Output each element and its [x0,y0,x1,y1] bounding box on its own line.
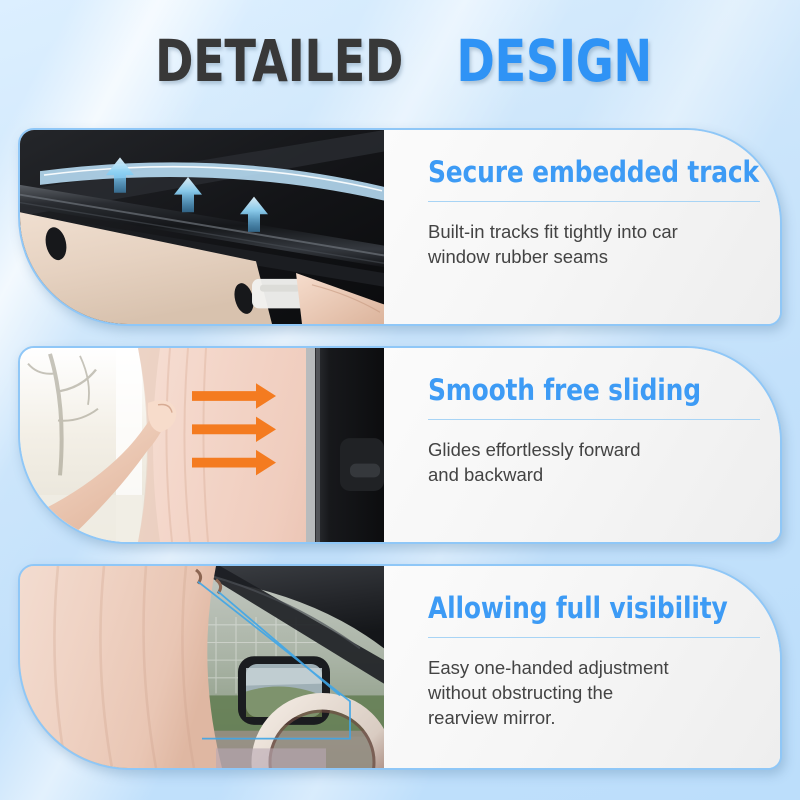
card-body-text: Easy one-handed adjustment without obstr… [428,655,738,730]
page-title: DETAILED DESIGN [0,30,800,92]
card-text-panel: Allowing full visibility Easy one-handed… [384,566,780,768]
photo-illustration-track [20,130,384,324]
infographic-page: DETAILED DESIGN [0,0,800,800]
photo-hand-sliding-curtain [20,348,384,542]
card-heading: Secure embedded track [428,156,701,188]
photo-illustration-visibility [20,566,384,768]
title-word-design: DESIGN [457,30,652,92]
card-divider [428,419,760,420]
card-heading: Smooth free sliding [428,374,701,406]
card-divider [428,637,760,638]
card-body-text: Built-in tracks fit tightly into car win… [428,219,738,269]
card-body-text: Glides effortlessly forward and backward [428,437,738,487]
photo-curtain-with-clear-mirror-view [20,566,384,768]
feature-card-secure-track: Secure embedded track Built-in tracks fi… [18,128,782,326]
photo-illustration-sliding [20,348,384,542]
card-heading: Allowing full visibility [428,592,701,624]
card-text-panel: Secure embedded track Built-in tracks fi… [384,130,780,324]
card-divider [428,201,760,202]
feature-card-smooth-sliding: Smooth free sliding Glides effortlessly … [18,346,782,544]
feature-card-full-visibility: Allowing full visibility Easy one-handed… [18,564,782,770]
title-word-detailed: DETAILED [155,30,403,92]
photo-car-window-track-closeup [20,130,384,324]
card-text-panel: Smooth free sliding Glides effortlessly … [384,348,780,542]
arrow-right-group [192,383,276,475]
